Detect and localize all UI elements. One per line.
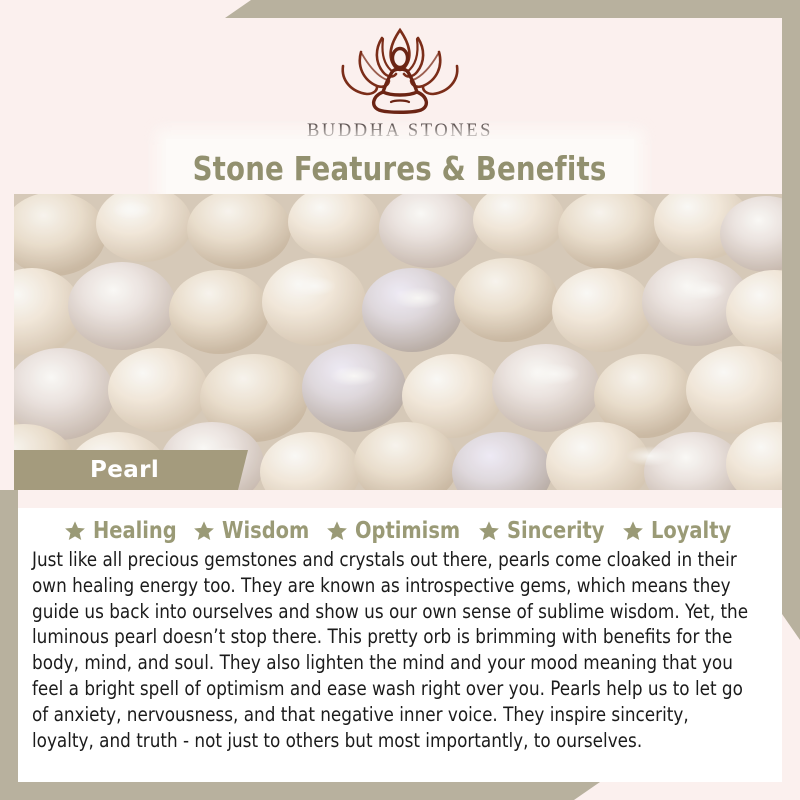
pearl-photo: [14, 194, 782, 490]
feature-label: Optimism: [355, 518, 460, 544]
frame-left-bar: [0, 490, 18, 800]
brand-logo: BUDDHA STONES: [0, 22, 800, 142]
star-icon: [64, 520, 86, 542]
feature-item-sincerity: Sincerity: [478, 518, 611, 544]
feature-label: Sincerity: [507, 518, 604, 544]
stone-description: Just like all precious gemstones and cry…: [32, 547, 750, 753]
content-card: Healing Wisdom Optimism Sincerity: [18, 508, 782, 782]
frame-top-right-bar: [225, 0, 800, 18]
title-banner: Stone Features & Benefits: [166, 139, 634, 197]
frame-bottom-bar: [0, 782, 600, 800]
feature-item-wisdom: Wisdom: [193, 518, 315, 544]
stone-name-badge: Pearl: [14, 450, 248, 490]
feature-item-optimism: Optimism: [326, 518, 467, 544]
feature-item-loyalty: Loyalty: [622, 518, 736, 544]
page-title: Stone Features & Benefits: [193, 149, 607, 188]
feature-item-healing: Healing: [64, 518, 182, 544]
poster-root: BUDDHA STONES Stone Features & Benefits: [0, 0, 800, 800]
lotus-meditation-icon: [325, 22, 475, 114]
stone-name-label: Pearl: [90, 457, 159, 483]
feature-label: Loyalty: [651, 518, 731, 544]
star-icon: [193, 520, 215, 542]
pearl-photo-graphic: [14, 194, 782, 490]
feature-label: Healing: [93, 518, 177, 544]
star-icon: [326, 520, 348, 542]
feature-list: Healing Wisdom Optimism Sincerity: [18, 508, 782, 544]
star-icon: [478, 520, 500, 542]
feature-label: Wisdom: [222, 518, 309, 544]
star-icon: [622, 520, 644, 542]
